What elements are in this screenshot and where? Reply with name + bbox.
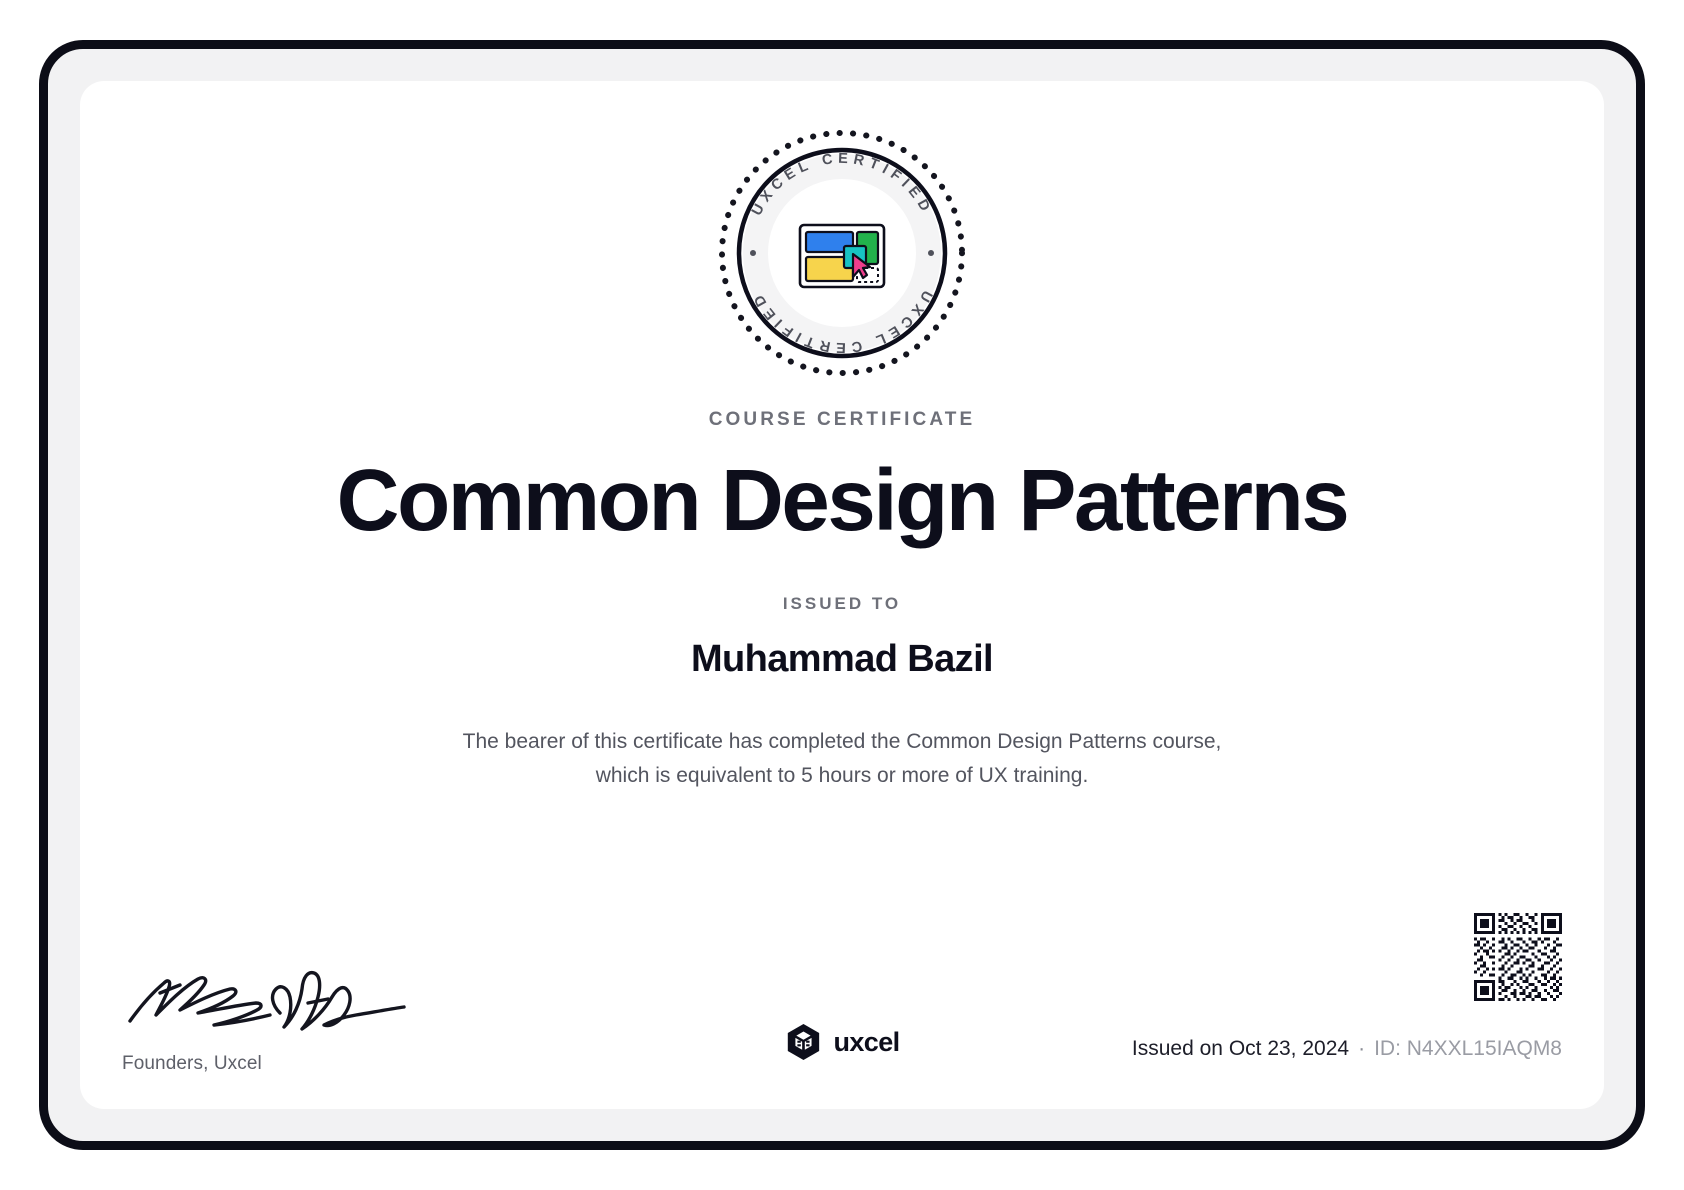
certificate-frame: UXCEL CERTIFIED UXCEL CERTIFIED: [39, 40, 1645, 1150]
certificate-id: ID: N4XXL15IAQM8: [1374, 1037, 1562, 1061]
uxcel-brand-logo: uxcel: [784, 1023, 899, 1061]
certified-seal-badge: UXCEL CERTIFIED UXCEL CERTIFIED: [716, 127, 968, 379]
certificate-description: The bearer of this certificate has compl…: [442, 725, 1242, 793]
certificate-footer: Founders, Uxcel: [122, 905, 1562, 1075]
certificate-page: UXCEL CERTIFIED UXCEL CERTIFIED: [0, 0, 1684, 1190]
certificate-title: Common Design Patterns: [337, 457, 1348, 546]
uxcel-brand-name: uxcel: [833, 1027, 899, 1058]
eyebrow-label: COURSE CERTIFICATE: [709, 409, 976, 431]
meta-separator: ·: [1358, 1037, 1365, 1061]
issued-on-date: Issued on Oct 23, 2024: [1132, 1037, 1349, 1061]
signature-block: Founders, Uxcel: [122, 947, 452, 1075]
recipient-name: Muhammad Bazil: [691, 638, 993, 681]
verification-qr-code[interactable]: [1474, 913, 1562, 1001]
issue-metadata: Issued on Oct 23, 2024 · ID: N4XXL15IAQM…: [1132, 1037, 1562, 1061]
issued-to-label: ISSUED TO: [783, 594, 901, 614]
signature-caption: Founders, Uxcel: [122, 1053, 452, 1075]
founder-signatures-icon: [122, 947, 412, 1037]
seal-bullet-right: [928, 250, 934, 256]
uxcel-hexagon-icon: [784, 1023, 822, 1061]
certificate-card: UXCEL CERTIFIED UXCEL CERTIFIED: [80, 81, 1604, 1109]
seal-bullet-left: [750, 250, 756, 256]
ui-layout-cursor-icon: [800, 225, 884, 287]
